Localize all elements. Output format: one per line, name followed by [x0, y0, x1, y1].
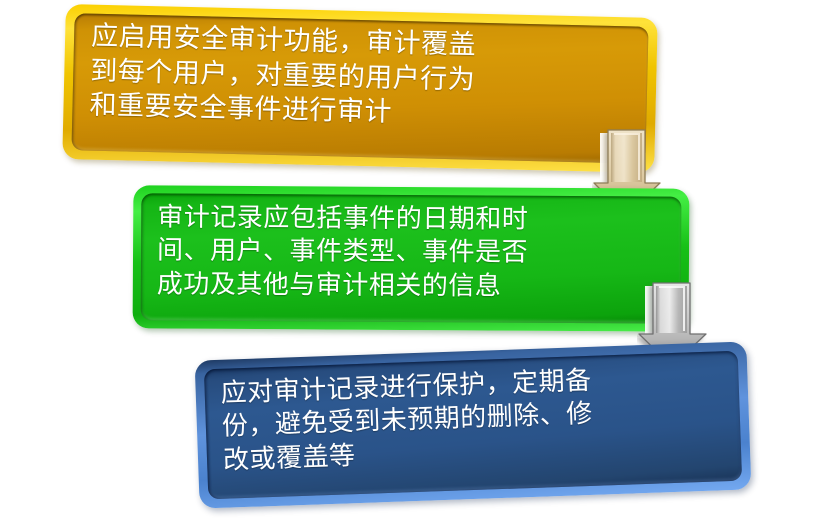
- flow-step-2-line-3: 成功及其他与审计相关的信息: [157, 267, 671, 304]
- flow-step-1-text: 应启用安全审计功能，审计覆盖 到每个用户，对重要的用户行为 和重要安全事件进行审…: [89, 19, 638, 136]
- flow-step-3-blue-box[interactable]: 应对审计记录进行保护，定期备 份，避免受到未预期的删除、修 改或覆盖等: [195, 341, 752, 508]
- flow-step-2-body: 审计记录应包括事件的日期和时 间、用户、事件类型、事件是否 成功及其他与审计相关…: [141, 193, 682, 323]
- flow-step-3-text: 应对审计记录进行保护，定期备 份，避免受到未预期的删除、修 改或覆盖等: [220, 359, 731, 477]
- flow-step-2-text: 审计记录应包括事件的日期和时 间、用户、事件类型、事件是否 成功及其他与审计相关…: [157, 200, 672, 303]
- flow-step-2-line-2: 间、用户、事件类型、事件是否: [157, 234, 671, 271]
- flow-step-1-body: 应启用安全审计功能，审计覆盖 到每个用户，对重要的用户行为 和重要安全事件进行审…: [71, 13, 648, 163]
- flow-step-3-body: 应对审计记录进行保护，定期备 份，避免受到未预期的删除、修 改或覆盖等: [204, 351, 742, 500]
- slide-canvas: 应启用安全审计功能，审计覆盖 到每个用户，对重要的用户行为 和重要安全事件进行审…: [0, 0, 816, 524]
- flow-step-1-gold-box[interactable]: 应启用安全审计功能，审计覆盖 到每个用户，对重要的用户行为 和重要安全事件进行审…: [62, 4, 657, 173]
- flow-step-2-line-1: 审计记录应包括事件的日期和时: [157, 200, 671, 237]
- flow-step-2-green-box[interactable]: 审计记录应包括事件的日期和时 间、用户、事件类型、事件是否 成功及其他与审计相关…: [133, 185, 690, 331]
